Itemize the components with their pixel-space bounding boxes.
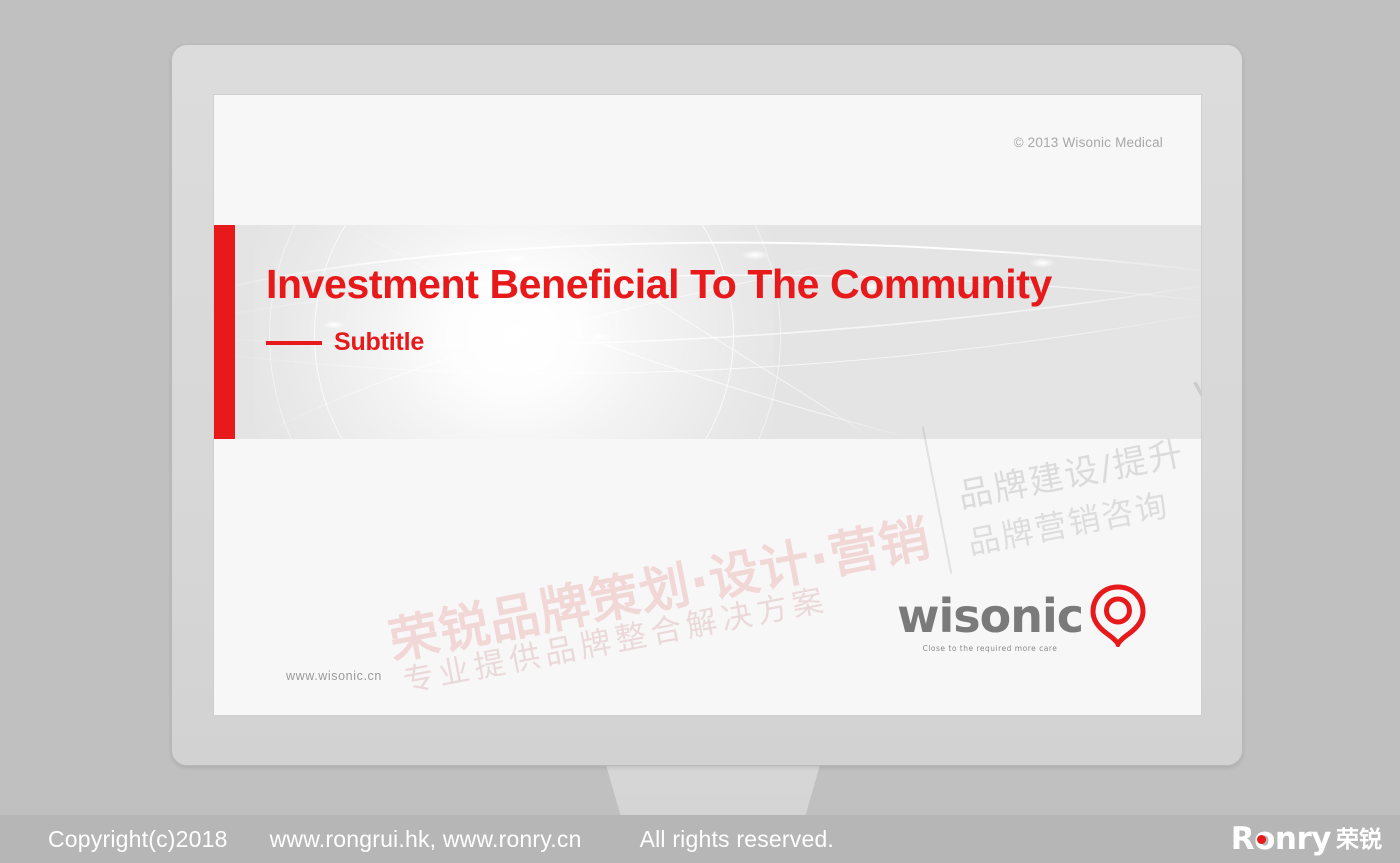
watermark-red-line-2: 专业提供品牌整合解决方案	[399, 574, 832, 701]
footer-rights-reserved: All rights reserved.	[640, 826, 834, 853]
watermark-red-line-1: 荣锐品牌策划·设计·营销	[382, 498, 936, 674]
ronry-wordmark: Ronry	[1231, 824, 1331, 855]
monitor-stand	[597, 762, 829, 822]
watermark-divider	[922, 426, 953, 574]
wisonic-text-block: wisonic Close to the required more care	[897, 589, 1083, 653]
slide-subtitle-row: Subtitle	[266, 328, 1166, 357]
slide-copyright-notice: © 2013 Wisonic Medical	[1014, 135, 1163, 150]
subtitle-dash-icon	[266, 341, 322, 345]
location-pin-droplet-icon	[1087, 583, 1149, 647]
wisonic-wordmark: wisonic	[897, 593, 1083, 639]
slide-subtitle: Subtitle	[334, 328, 424, 357]
presentation-slide: © 2013 Wisonic Medical	[214, 95, 1201, 715]
title-block: Investment Beneficial To The Community S…	[266, 263, 1166, 357]
watermark-gray-line-1: 品牌建设/提升	[953, 426, 1188, 518]
screenshot-stage: © 2013 Wisonic Medical	[0, 0, 1400, 863]
ronry-chinese-name: 荣锐	[1336, 828, 1382, 851]
footer-copyright: Copyright(c)2018	[48, 826, 228, 853]
wisonic-logo: wisonic Close to the required more care	[897, 589, 1149, 653]
footer-urls[interactable]: www.rongrui.hk, www.ronry.cn	[270, 826, 582, 853]
watermark-gray-line-2: 品牌营销咨询	[963, 480, 1172, 564]
page-footer-bar: Copyright(c)2018 www.rongrui.hk, www.ron…	[0, 815, 1400, 863]
monitor-screen: © 2013 Wisonic Medical	[213, 94, 1202, 716]
wisonic-tagline: Close to the required more care	[897, 644, 1083, 653]
slide-website-url: www.wisonic.cn	[286, 669, 382, 683]
slide-title: Investment Beneficial To The Community	[266, 263, 1166, 306]
title-accent-bar	[214, 225, 235, 439]
ronry-dot-icon	[1257, 835, 1266, 844]
ronry-logo: Ronry 荣锐	[1231, 824, 1382, 855]
